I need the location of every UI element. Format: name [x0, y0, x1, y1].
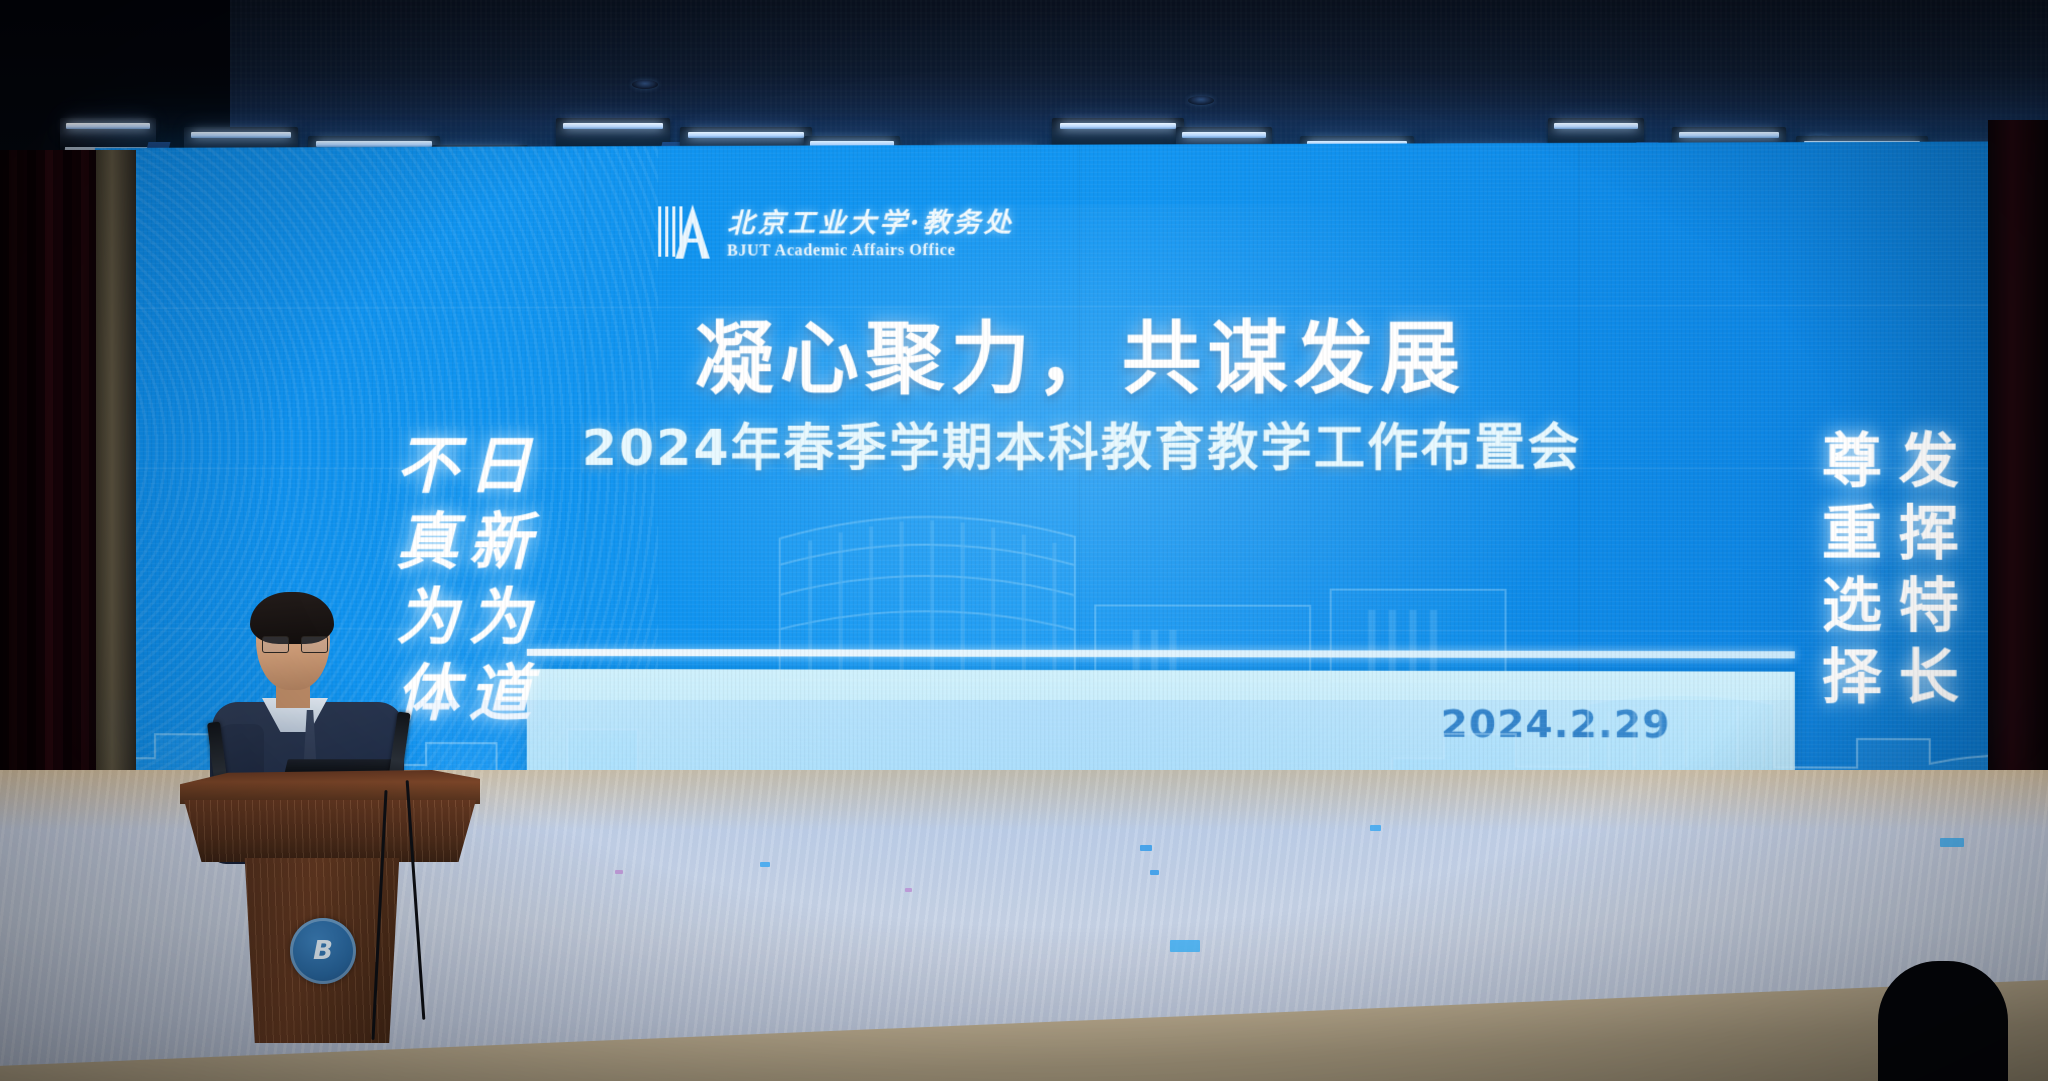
calligraphy-char: 日: [468, 428, 531, 504]
light-tube: [1554, 123, 1638, 128]
logo-chinese-text: 北京工业大学·教务处: [727, 200, 1014, 240]
podium-front-face: [184, 800, 476, 862]
floor-confetti: [1170, 940, 1200, 952]
calligraphy-char: 选: [1822, 569, 1882, 641]
calligraphy-char: 不: [396, 428, 458, 504]
light-tube: [66, 123, 150, 128]
floor-confetti: [1940, 838, 1964, 847]
light-tube: [1060, 123, 1176, 128]
light-tube: [191, 132, 291, 137]
stage-scene: 北京工业大学·教务处 BJUT Academic Affairs Office …: [0, 0, 2048, 1081]
calligraphy-char: 重: [1822, 497, 1882, 569]
slide-subtitle: 2024年春季学期本科教育教学工作布置会: [95, 407, 2048, 481]
floor-confetti: [1150, 870, 1159, 875]
floor-confetti: [760, 862, 770, 867]
audience-head-silhouette: [1878, 961, 2008, 1081]
ceiling-dome-light: [632, 80, 658, 89]
calligraphy-char: 发: [1899, 425, 1959, 497]
bjut-logo-block: 北京工业大学·教务处 BJUT Academic Affairs Office: [658, 200, 1014, 260]
floor-confetti: [1370, 825, 1381, 831]
floor-confetti: [905, 888, 912, 892]
calligraphy-char: 挥: [1899, 497, 1959, 569]
logo-english-text: BJUT Academic Affairs Office: [727, 242, 1014, 261]
floor-confetti: [1140, 845, 1152, 851]
calligraphy-char: 真: [396, 504, 458, 580]
ceiling-dome-light: [1188, 96, 1214, 105]
light-tube: [688, 132, 804, 137]
light-tube: [1182, 132, 1266, 137]
calligraphy-char: 尊: [1822, 425, 1882, 497]
calligraphy-char: 新: [468, 504, 531, 580]
speaker-eyeglasses: [262, 636, 328, 652]
calligraphy-char: 特: [1899, 569, 1959, 641]
floor-confetti: [615, 870, 623, 874]
bjut-arch-logo-icon: [658, 202, 713, 261]
slide-main-title: 凝心聚力，共谋发展: [95, 294, 2048, 410]
bjut-seal-emblem-icon: B: [290, 918, 356, 984]
light-tube: [563, 123, 663, 128]
podium-top-surface: [180, 770, 480, 804]
podium: B: [228, 770, 433, 1030]
emblem-letter: B: [313, 938, 333, 964]
light-tube: [1679, 132, 1779, 137]
